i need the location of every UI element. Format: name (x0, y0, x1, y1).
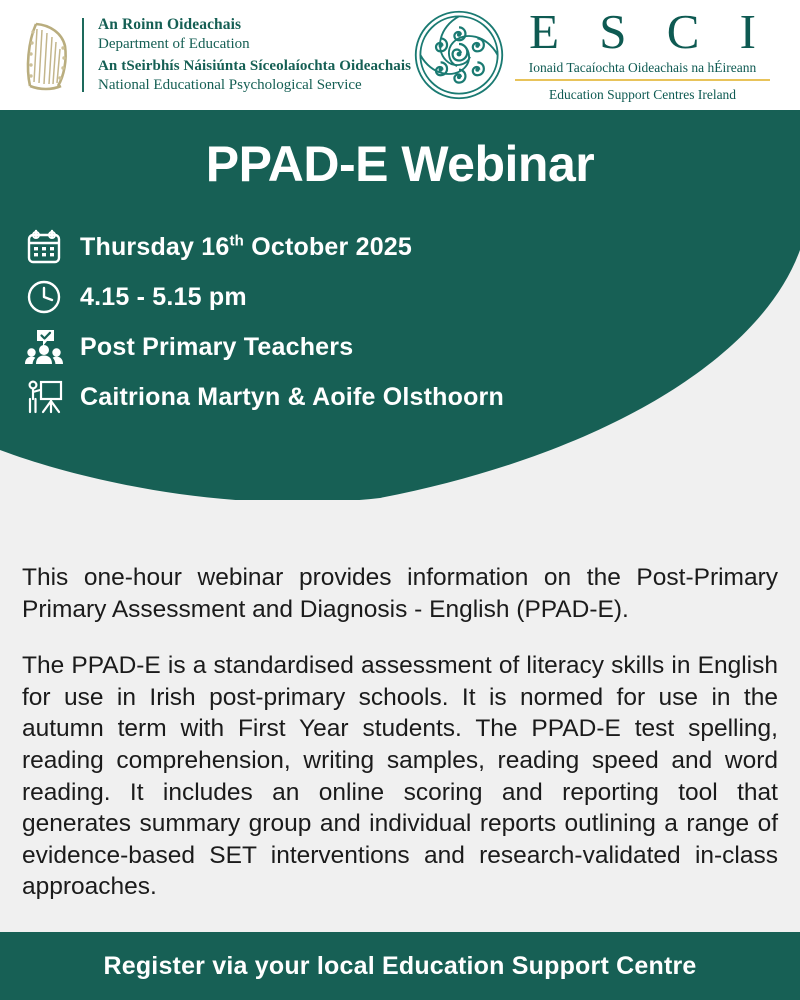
calendar-icon (22, 225, 66, 269)
footer-call-to-action: Register via your local Education Suppor… (103, 952, 696, 981)
footer-banner: Register via your local Education Suppor… (0, 932, 800, 1000)
description-text: This one-hour webinar provides informati… (22, 562, 778, 903)
doe-irish-title: An Roinn Oideachais (98, 15, 411, 35)
detail-label-time: 4.15 - 5.15 pm (80, 283, 247, 312)
detail-row-time: 4.15 - 5.15 pm (22, 272, 722, 322)
header-logo-bar: An Roinn Oideachais Department of Educat… (0, 0, 800, 110)
esci-subtitle-irish: Ionaid Tacaíochta Oideachais na hÉireann (515, 60, 770, 81)
detail-label-audience: Post Primary Teachers (80, 333, 353, 362)
celtic-spiral-circle-icon (413, 9, 505, 101)
detail-label-presenters: Caitriona Martyn & Aoife Olsthoorn (80, 383, 504, 412)
clock-icon (22, 275, 66, 319)
presenter-board-icon (22, 375, 66, 419)
esci-wordmark: E S C I Ionaid Tacaíochta Oideachais na … (515, 7, 770, 103)
webinar-details-list: Thursday 16th October 2025 4.15 - 5.15 p… (22, 222, 722, 422)
esci-letters: E S C I (515, 7, 770, 56)
department-of-education-logo: An Roinn Oideachais Department of Educat… (18, 15, 411, 95)
irish-harp-emblem-icon (18, 15, 74, 95)
esci-logo: E S C I Ionaid Tacaíochta Oideachais na … (413, 7, 770, 103)
detail-label-date: Thursday 16th October 2025 (80, 233, 412, 262)
description-paragraph-2: The PPAD-E is a standardised assessment … (22, 650, 778, 903)
hero-panel: PPAD-E Webinar (0, 110, 800, 500)
page-title: PPAD-E Webinar (0, 135, 800, 193)
neps-irish-title: An tSeirbhís Náisiúnta Síceolaíochta Oid… (98, 57, 411, 76)
neps-english-title: National Educational Psychological Servi… (98, 76, 411, 95)
detail-row-presenters: Caitriona Martyn & Aoife Olsthoorn (22, 372, 722, 422)
department-of-education-wordmark: An Roinn Oideachais Department of Educat… (98, 15, 411, 95)
audience-group-icon (22, 325, 66, 369)
detail-row-audience: Post Primary Teachers (22, 322, 722, 372)
logo-divider (82, 18, 84, 92)
description-paragraph-1: This one-hour webinar provides informati… (22, 562, 778, 625)
doe-english-title: Department of Education (98, 35, 411, 54)
detail-row-date: Thursday 16th October 2025 (22, 222, 722, 272)
esci-subtitle-english: Education Support Centres Ireland (515, 87, 770, 103)
